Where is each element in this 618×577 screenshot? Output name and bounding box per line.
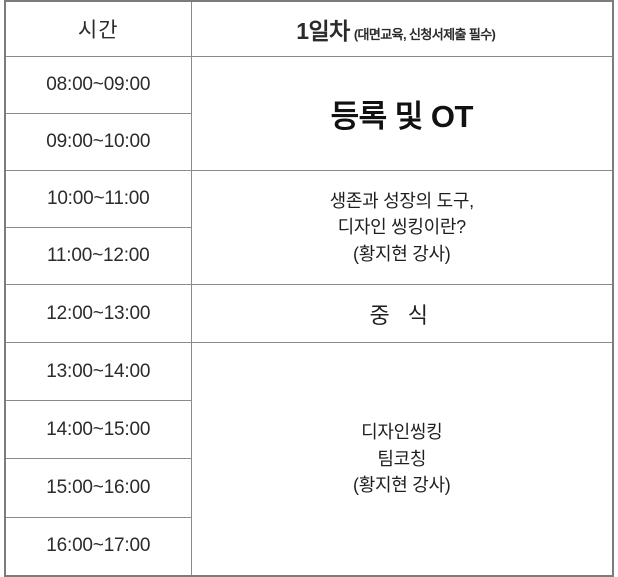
- table-row: 08:00~09:00 등록 및 OT: [5, 57, 613, 114]
- session-morning-lecture-line1: 생존과 성장의 도구,: [192, 188, 613, 215]
- table-row: 13:00~14:00 디자인씽킹 팀코칭 (황지현 강사): [5, 343, 613, 401]
- session-afternoon-coaching-line2: 팀코칭: [192, 446, 613, 473]
- time-slot-0900: 09:00~10:00: [5, 114, 191, 171]
- session-afternoon-coaching: 디자인씽킹 팀코칭 (황지현 강사): [191, 343, 613, 577]
- day-header-note: (대면교육, 신청서제출 필수): [354, 27, 495, 42]
- session-morning-lecture-text: 생존과 성장의 도구, 디자인 씽킹이란? (황지현 강사): [192, 188, 613, 268]
- session-afternoon-coaching-line1: 디자인씽킹: [192, 419, 613, 446]
- time-slot-1400: 14:00~15:00: [5, 401, 191, 459]
- time-slot-0800: 08:00~09:00: [5, 57, 191, 114]
- session-morning-lecture-line2: 디자인 씽킹이란?: [192, 214, 613, 241]
- table-row: 10:00~11:00 생존과 성장의 도구, 디자인 씽킹이란? (황지현 강…: [5, 171, 613, 228]
- schedule-sheet: 시간 1일차(대면교육, 신청서제출 필수) 08:00~09:00 등록 및 …: [0, 0, 618, 571]
- session-afternoon-coaching-instructor: (황지현 강사): [192, 472, 613, 499]
- table-row: 12:00~13:00 중 식: [5, 285, 613, 343]
- session-orientation-title: 등록 및 OT: [331, 99, 473, 134]
- column-header-time: 시간: [5, 1, 191, 57]
- session-morning-lecture-instructor: (황지현 강사): [192, 241, 613, 268]
- time-slot-1000: 10:00~11:00: [5, 171, 191, 228]
- session-orientation: 등록 및 OT: [191, 57, 613, 171]
- session-lunch-title: 중 식: [369, 303, 434, 328]
- time-slot-1200: 12:00~13:00: [5, 285, 191, 343]
- session-afternoon-coaching-text: 디자인씽킹 팀코칭 (황지현 강사): [192, 419, 613, 499]
- time-slot-1300: 13:00~14:00: [5, 343, 191, 401]
- column-header-day: 1일차(대면교육, 신청서제출 필수): [191, 1, 613, 57]
- schedule-table: 시간 1일차(대면교육, 신청서제출 필수) 08:00~09:00 등록 및 …: [4, 0, 614, 577]
- session-lunch: 중 식: [191, 285, 613, 343]
- time-slot-1100: 11:00~12:00: [5, 228, 191, 285]
- table-header-row: 시간 1일차(대면교육, 신청서제출 필수): [5, 1, 613, 57]
- session-morning-lecture: 생존과 성장의 도구, 디자인 씽킹이란? (황지현 강사): [191, 171, 613, 285]
- time-slot-1500: 15:00~16:00: [5, 459, 191, 517]
- time-slot-1600: 16:00~17:00: [5, 517, 191, 576]
- day-header-main: 1일차: [296, 18, 350, 44]
